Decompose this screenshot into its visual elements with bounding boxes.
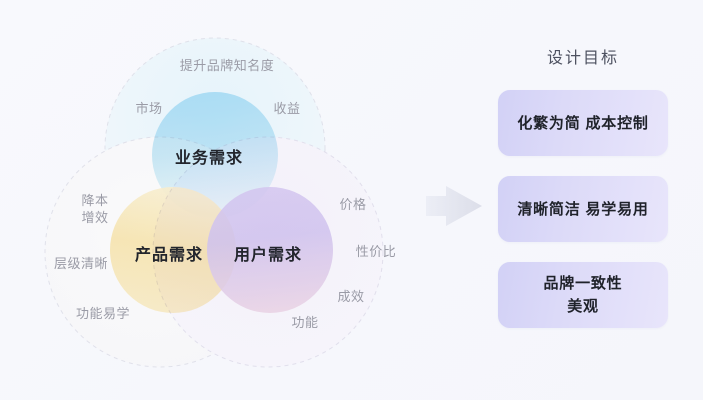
goal-card[interactable]: 化繁为简 成本控制 [498,90,668,156]
label-business-need: 业务需求 [175,144,243,168]
arrow-right-icon [424,182,488,230]
label-cost-reduction: 降本 增效 [71,192,119,226]
goal-card-text: 清晰简洁 易学易用 [517,198,648,221]
label-effectiveness: 成效 [331,288,371,305]
label-cost-performance: 性价比 [349,243,403,260]
diagram-canvas: 提升品牌知名度 市场 收益 降本 增效 层级清晰 功能易学 价格 性价比 成效 … [0,0,703,400]
label-revenue: 收益 [266,100,308,117]
design-goals-title: 设计目标 [498,44,668,68]
goal-card[interactable]: 清晰简洁 易学易用 [498,176,668,242]
label-product-need: 产品需求 [135,241,203,265]
label-price: 价格 [333,196,373,213]
venn-diagram: 提升品牌知名度 市场 收益 降本 增效 层级清晰 功能易学 价格 性价比 成效 … [0,0,430,400]
label-market: 市场 [128,100,170,117]
goal-card-text: 化繁为简 成本控制 [517,112,648,135]
goal-card[interactable]: 品牌一致性 美观 [498,262,668,328]
label-easy-to-learn: 功能易学 [67,305,139,322]
design-goals-panel: 设计目标 化繁为简 成本控制 清晰简洁 易学易用 品牌一致性 美观 [498,44,668,328]
label-clear-hierarchy: 层级清晰 [46,255,116,272]
label-brand-awareness: 提升品牌知名度 [167,57,287,74]
goal-card-text: 品牌一致性 美观 [543,272,622,318]
label-function: 功能 [285,314,325,331]
label-user-need: 用户需求 [234,241,302,265]
flow-arrow [424,182,488,230]
